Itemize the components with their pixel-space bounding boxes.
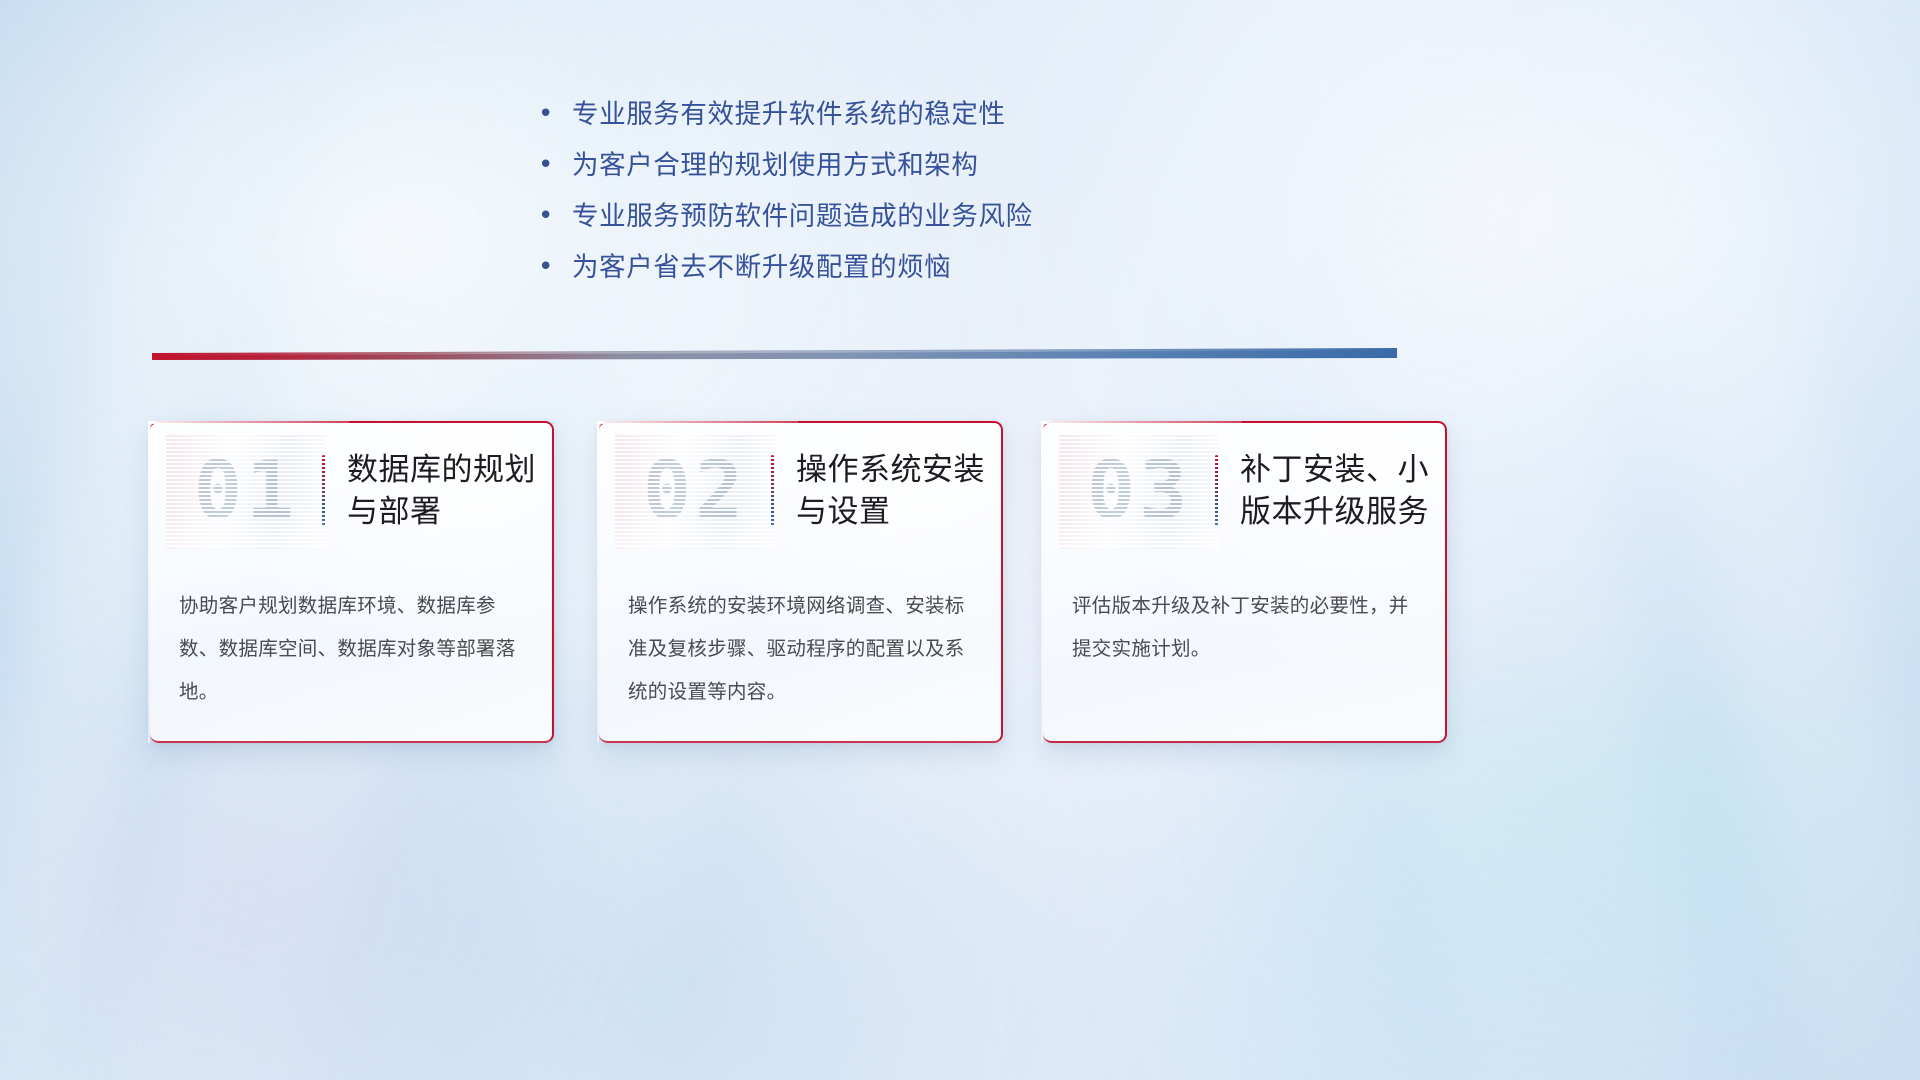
card-description: 协助客户规划数据库环境、数据库参数、数据库空间、数据库对象等部署落地。 <box>179 585 528 714</box>
card-title-divider-line <box>322 455 325 527</box>
card-title-divider-line <box>1215 455 1218 527</box>
card-number-text: 03 <box>1087 439 1191 543</box>
section-divider <box>152 348 1397 366</box>
card-title: 补丁安装、小版本升级服务 <box>1240 449 1447 533</box>
bullet-dot-icon: • <box>538 92 572 136</box>
bullet-dot-icon: • <box>538 143 572 187</box>
bullet-text: 为客户省去不断升级配置的烦恼 <box>572 245 951 289</box>
card-description: 评估版本升级及补丁安装的必要性，并提交实施计划。 <box>1072 585 1421 671</box>
list-item: • 为客户合理的规划使用方式和架构 <box>538 143 1178 194</box>
card-description: 操作系统的安装环境网络调查、安装标准及复核步骤、驱动程序的配置以及系统的设置等内… <box>628 585 977 714</box>
bullet-dot-icon: • <box>538 194 572 238</box>
bullet-text: 专业服务有效提升软件系统的稳定性 <box>572 92 1006 136</box>
divider-gradient-bar <box>152 348 1397 366</box>
card-number-badge: 03 <box>1069 439 1209 543</box>
list-item: • 专业服务有效提升软件系统的稳定性 <box>538 92 1178 143</box>
card-header: 01 数据库的规划与部署 <box>150 421 554 561</box>
benefits-bullet-list: • 专业服务有效提升软件系统的稳定性 • 为客户合理的规划使用方式和架构 • 专… <box>538 92 1178 296</box>
service-card-03[interactable]: 03 补丁安装、小版本升级服务 评估版本升级及补丁安装的必要性，并提交实施计划。 <box>1043 421 1447 743</box>
bullet-dot-icon: • <box>538 245 572 289</box>
card-title: 操作系统安装与设置 <box>796 449 1003 533</box>
card-number-text: 02 <box>643 439 747 543</box>
card-title: 数据库的规划与部署 <box>347 449 554 533</box>
card-header: 03 补丁安装、小版本升级服务 <box>1043 421 1447 561</box>
card-number-badge: 01 <box>176 439 316 543</box>
card-title-divider-line <box>771 455 774 527</box>
bullet-text: 专业服务预防软件问题造成的业务风险 <box>572 194 1033 238</box>
service-card-01[interactable]: 01 数据库的规划与部署 协助客户规划数据库环境、数据库参数、数据库空间、数据库… <box>150 421 554 743</box>
service-card-group: 01 数据库的规划与部署 协助客户规划数据库环境、数据库参数、数据库空间、数据库… <box>150 421 1450 743</box>
card-header: 02 操作系统安装与设置 <box>599 421 1003 561</box>
bullet-text: 为客户合理的规划使用方式和架构 <box>572 143 979 187</box>
card-number-text: 01 <box>194 439 298 543</box>
list-item: • 专业服务预防软件问题造成的业务风险 <box>538 194 1178 245</box>
card-number-badge: 02 <box>625 439 765 543</box>
service-card-02[interactable]: 02 操作系统安装与设置 操作系统的安装环境网络调查、安装标准及复核步骤、驱动程… <box>599 421 1003 743</box>
list-item: • 为客户省去不断升级配置的烦恼 <box>538 245 1178 296</box>
